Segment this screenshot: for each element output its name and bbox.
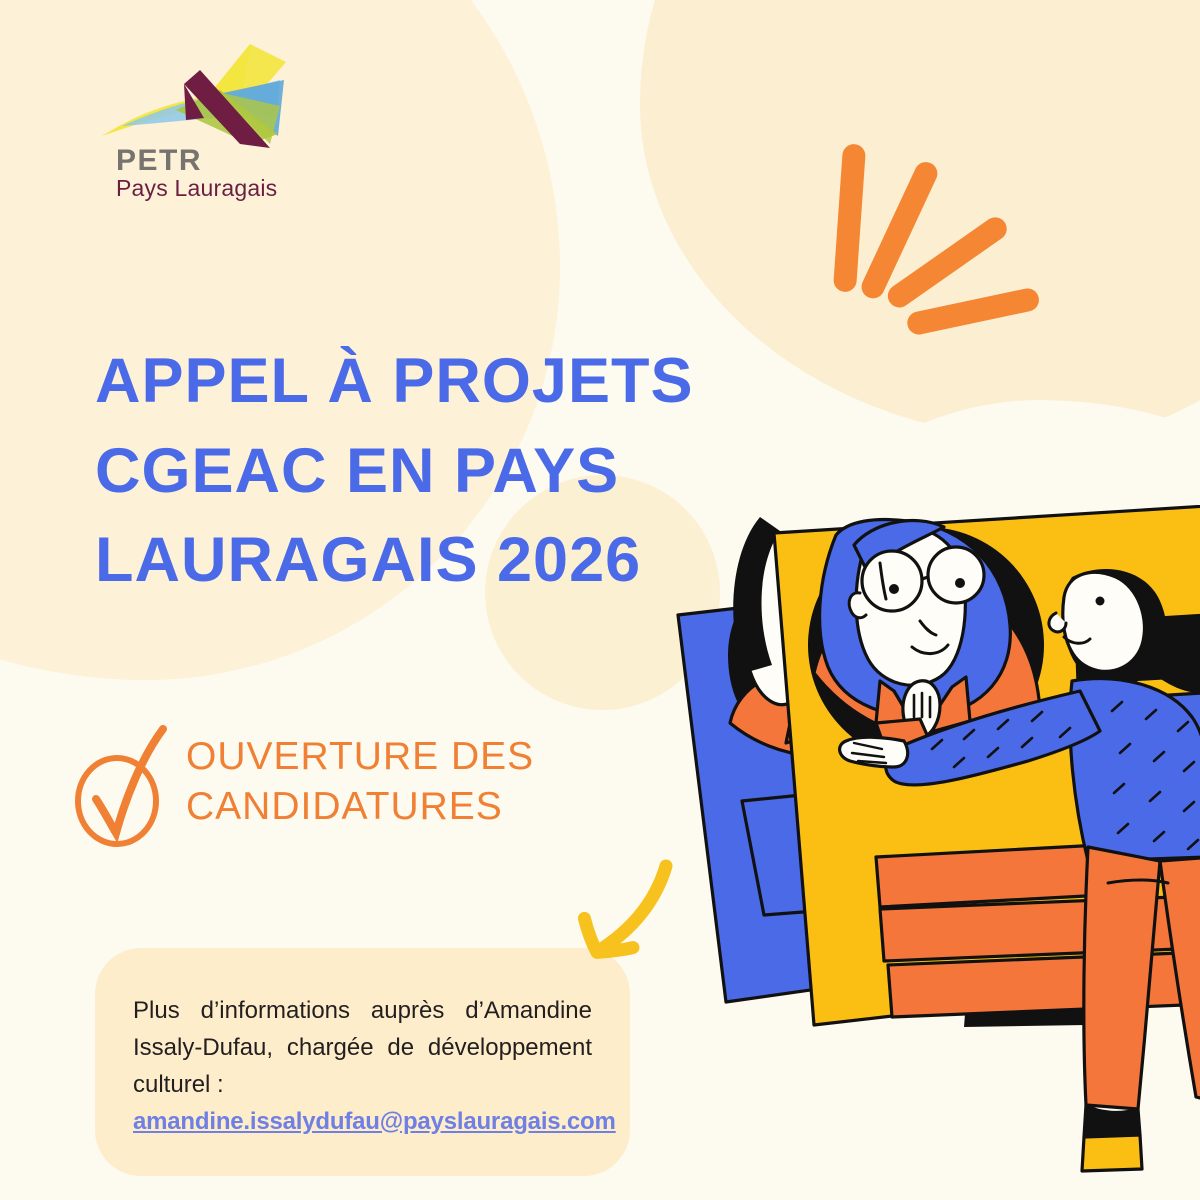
poster-canvas: PETR Pays Lauragais Appel à projets CGEA… — [0, 0, 1200, 1200]
logo-subtitle: Pays Lauragais — [116, 177, 310, 200]
petr-logo-wordmark: PETR Pays Lauragais — [100, 146, 310, 200]
petr-logo: PETR Pays Lauragais — [100, 40, 310, 200]
contact-paragraph: Plus d’informations auprès d’Amandine Is… — [133, 992, 592, 1104]
logo-title: PETR — [116, 146, 310, 176]
title-line-2: CGEAC en Pays — [95, 427, 795, 516]
petr-logo-mark-icon — [100, 40, 300, 150]
curved-arrow-down-left-icon — [548, 852, 698, 972]
title-line-1: Appel à projets — [95, 337, 795, 426]
two-people-holding-documents-illustration — [668, 505, 1200, 1200]
cta-line-1: Ouverture des — [186, 732, 534, 782]
call-to-action-text: Ouverture des candidatures — [186, 732, 534, 832]
orange-rays-decoration-icon — [800, 130, 1040, 370]
contact-email-link[interactable]: amandine.issalydufau@payslauragais.com — [133, 1108, 616, 1136]
title-line-3: Lauragais 2026 — [95, 516, 795, 605]
check-circle-icon — [70, 719, 178, 849]
cta-line-2: candidatures — [186, 782, 534, 832]
contact-info-card: Plus d’informations auprès d’Amandine Is… — [95, 948, 630, 1176]
page-title: Appel à projets CGEAC en Pays Lauragais … — [95, 337, 795, 605]
call-to-action-block: Ouverture des candidatures — [70, 715, 534, 849]
